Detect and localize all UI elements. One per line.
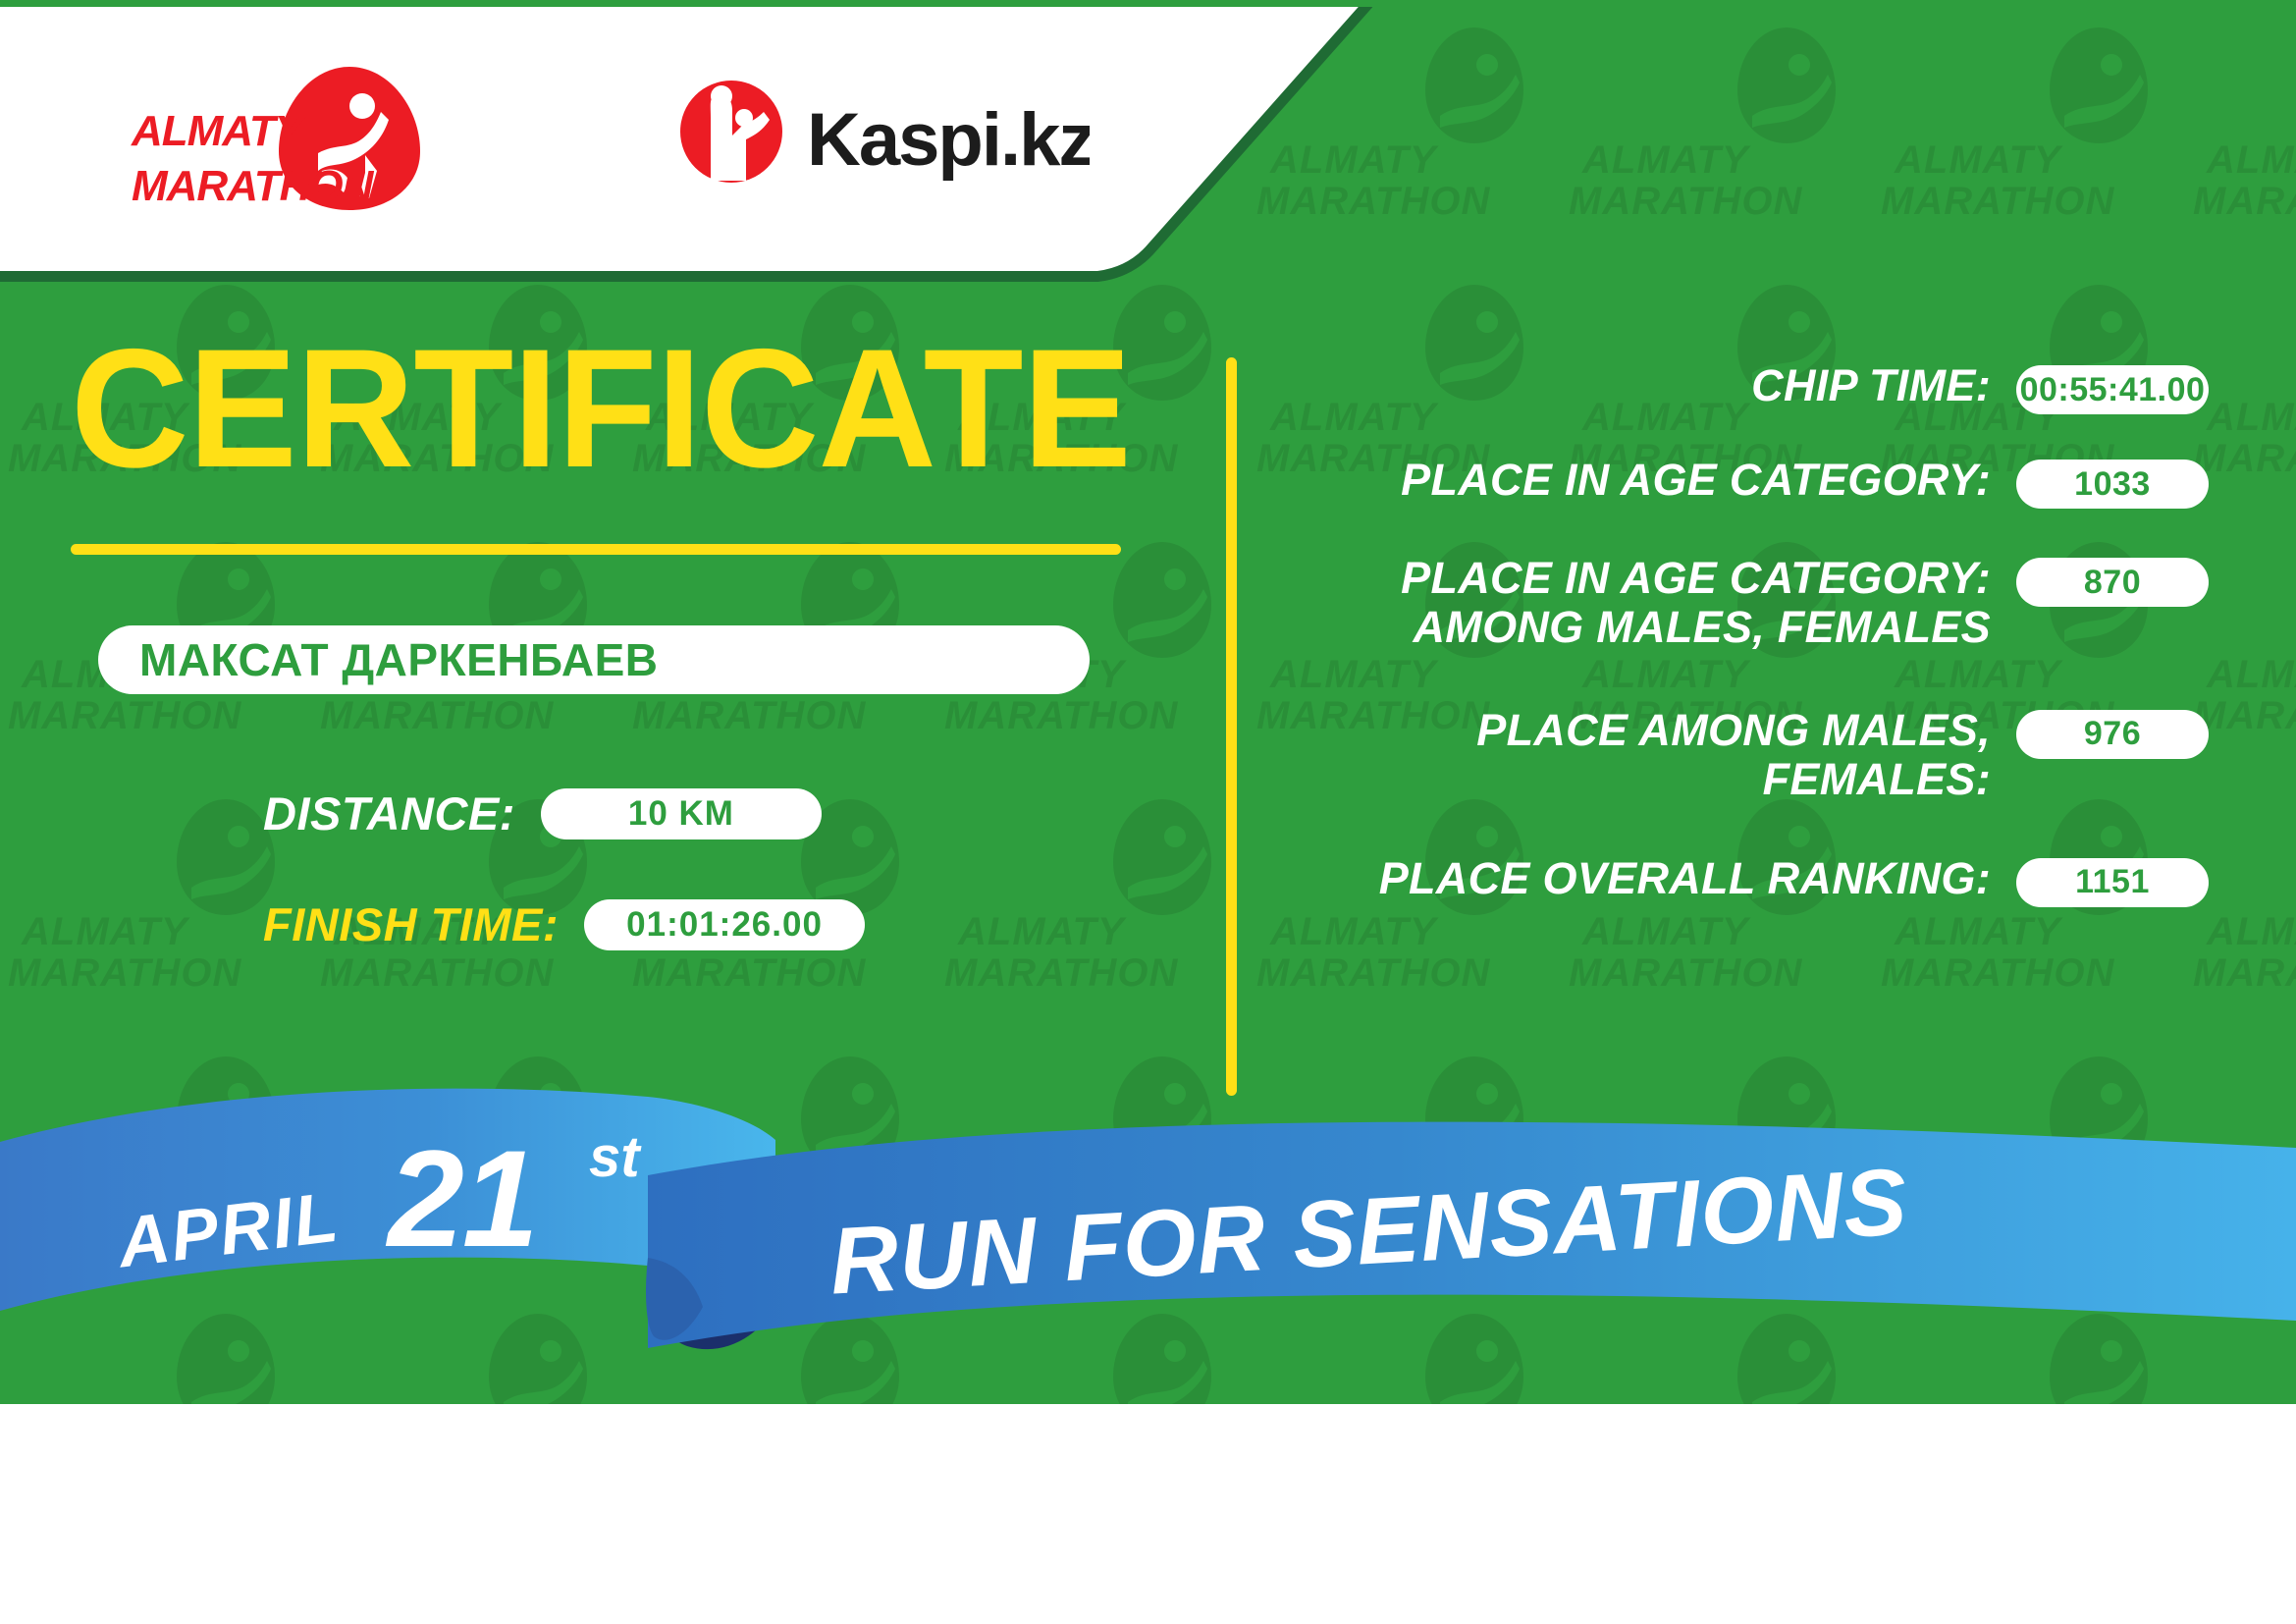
certificate-page: ALMATY MARATHON ALMATY MARATHON xyxy=(0,0,2296,1624)
column-divider xyxy=(1226,357,1237,1096)
finish-time-value: 01:01:26.00 xyxy=(626,905,823,945)
left-column: CERTIFICATE МАКСАТ ДАРКЕНБАЕВ DISTANCE: … xyxy=(0,324,1168,951)
place-among-males-females-value: 976 xyxy=(2084,715,2141,753)
stat-row: PLACE AMONG MALES, FEMALES: 976 xyxy=(1266,706,2209,805)
stat-row: PLACE IN AGE CATEGORY: 1033 xyxy=(1266,456,2209,509)
place-age-category-among-label: PLACE IN AGE CATEGORY: AMONG MALES, FEMA… xyxy=(1266,554,2016,653)
title-underline xyxy=(71,544,1121,555)
finish-time-row: FINISH TIME: 01:01:26.00 xyxy=(263,897,1168,951)
chip-time-value: 00:55:41.00 xyxy=(2020,371,2206,409)
svg-text:ALMATY: ALMATY xyxy=(131,107,307,155)
page-title: CERTIFICATE xyxy=(71,324,1135,493)
stat-row: CHIP TIME: 00:55:41.00 xyxy=(1266,361,2209,414)
place-overall-ranking-value: 1151 xyxy=(2075,863,2150,901)
place-among-males-females-value-pill: 976 xyxy=(2016,710,2209,759)
chip-time-label: CHIP TIME: xyxy=(1266,361,2016,410)
stat-row: PLACE OVERALL RANKING: 1151 xyxy=(1266,854,2209,907)
place-age-category-value-pill: 1033 xyxy=(2016,460,2209,509)
place-among-males-females-label: PLACE AMONG MALES, FEMALES: xyxy=(1266,706,2016,805)
svg-text:MARATHON: MARATHON xyxy=(132,162,375,210)
participant-name-field: МАКСАТ ДАРКЕНБАЕВ xyxy=(98,625,1090,694)
place-age-category-among-value-pill: 870 xyxy=(2016,558,2209,607)
place-age-category-among-value: 870 xyxy=(2084,564,2141,602)
distance-label: DISTANCE: xyxy=(263,786,515,840)
distance-row: DISTANCE: 10 KM xyxy=(263,786,1168,840)
header-panel: ALMATY MARATHON Kaspi.kz xyxy=(0,0,1433,295)
place-overall-ranking-label: PLACE OVERALL RANKING: xyxy=(1266,854,2016,903)
finish-time-label: FINISH TIME: xyxy=(263,897,559,951)
distance-value-pill: 10 KM xyxy=(541,788,822,839)
stat-row: PLACE IN AGE CATEGORY: AMONG MALES, FEMA… xyxy=(1266,554,2209,653)
ribbon-ordinal: st xyxy=(589,1124,640,1190)
sponsor-bar xyxy=(0,1404,2296,1624)
almaty-marathon-logo: ALMATY MARATHON xyxy=(126,61,450,218)
chip-time-value-pill: 00:55:41.00 xyxy=(2016,365,2209,414)
svg-text:Kaspi.kz: Kaspi.kz xyxy=(807,98,1090,182)
distance-value: 10 KM xyxy=(628,794,734,834)
kaspi-kz-logo: Kaspi.kz xyxy=(677,75,1090,192)
place-age-category-value: 1033 xyxy=(2074,465,2151,504)
top-green-strip xyxy=(0,0,2296,7)
ribbon-day: 21 xyxy=(388,1119,537,1278)
stats-column: CHIP TIME: 00:55:41.00 PLACE IN AGE CATE… xyxy=(1266,361,2209,948)
finish-time-value-pill: 01:01:26.00 xyxy=(584,899,865,950)
place-age-category-label: PLACE IN AGE CATEGORY: xyxy=(1266,456,2016,505)
participant-name: МАКСАТ ДАРКЕНБАЕВ xyxy=(139,633,658,686)
place-overall-ranking-value-pill: 1151 xyxy=(2016,858,2209,907)
